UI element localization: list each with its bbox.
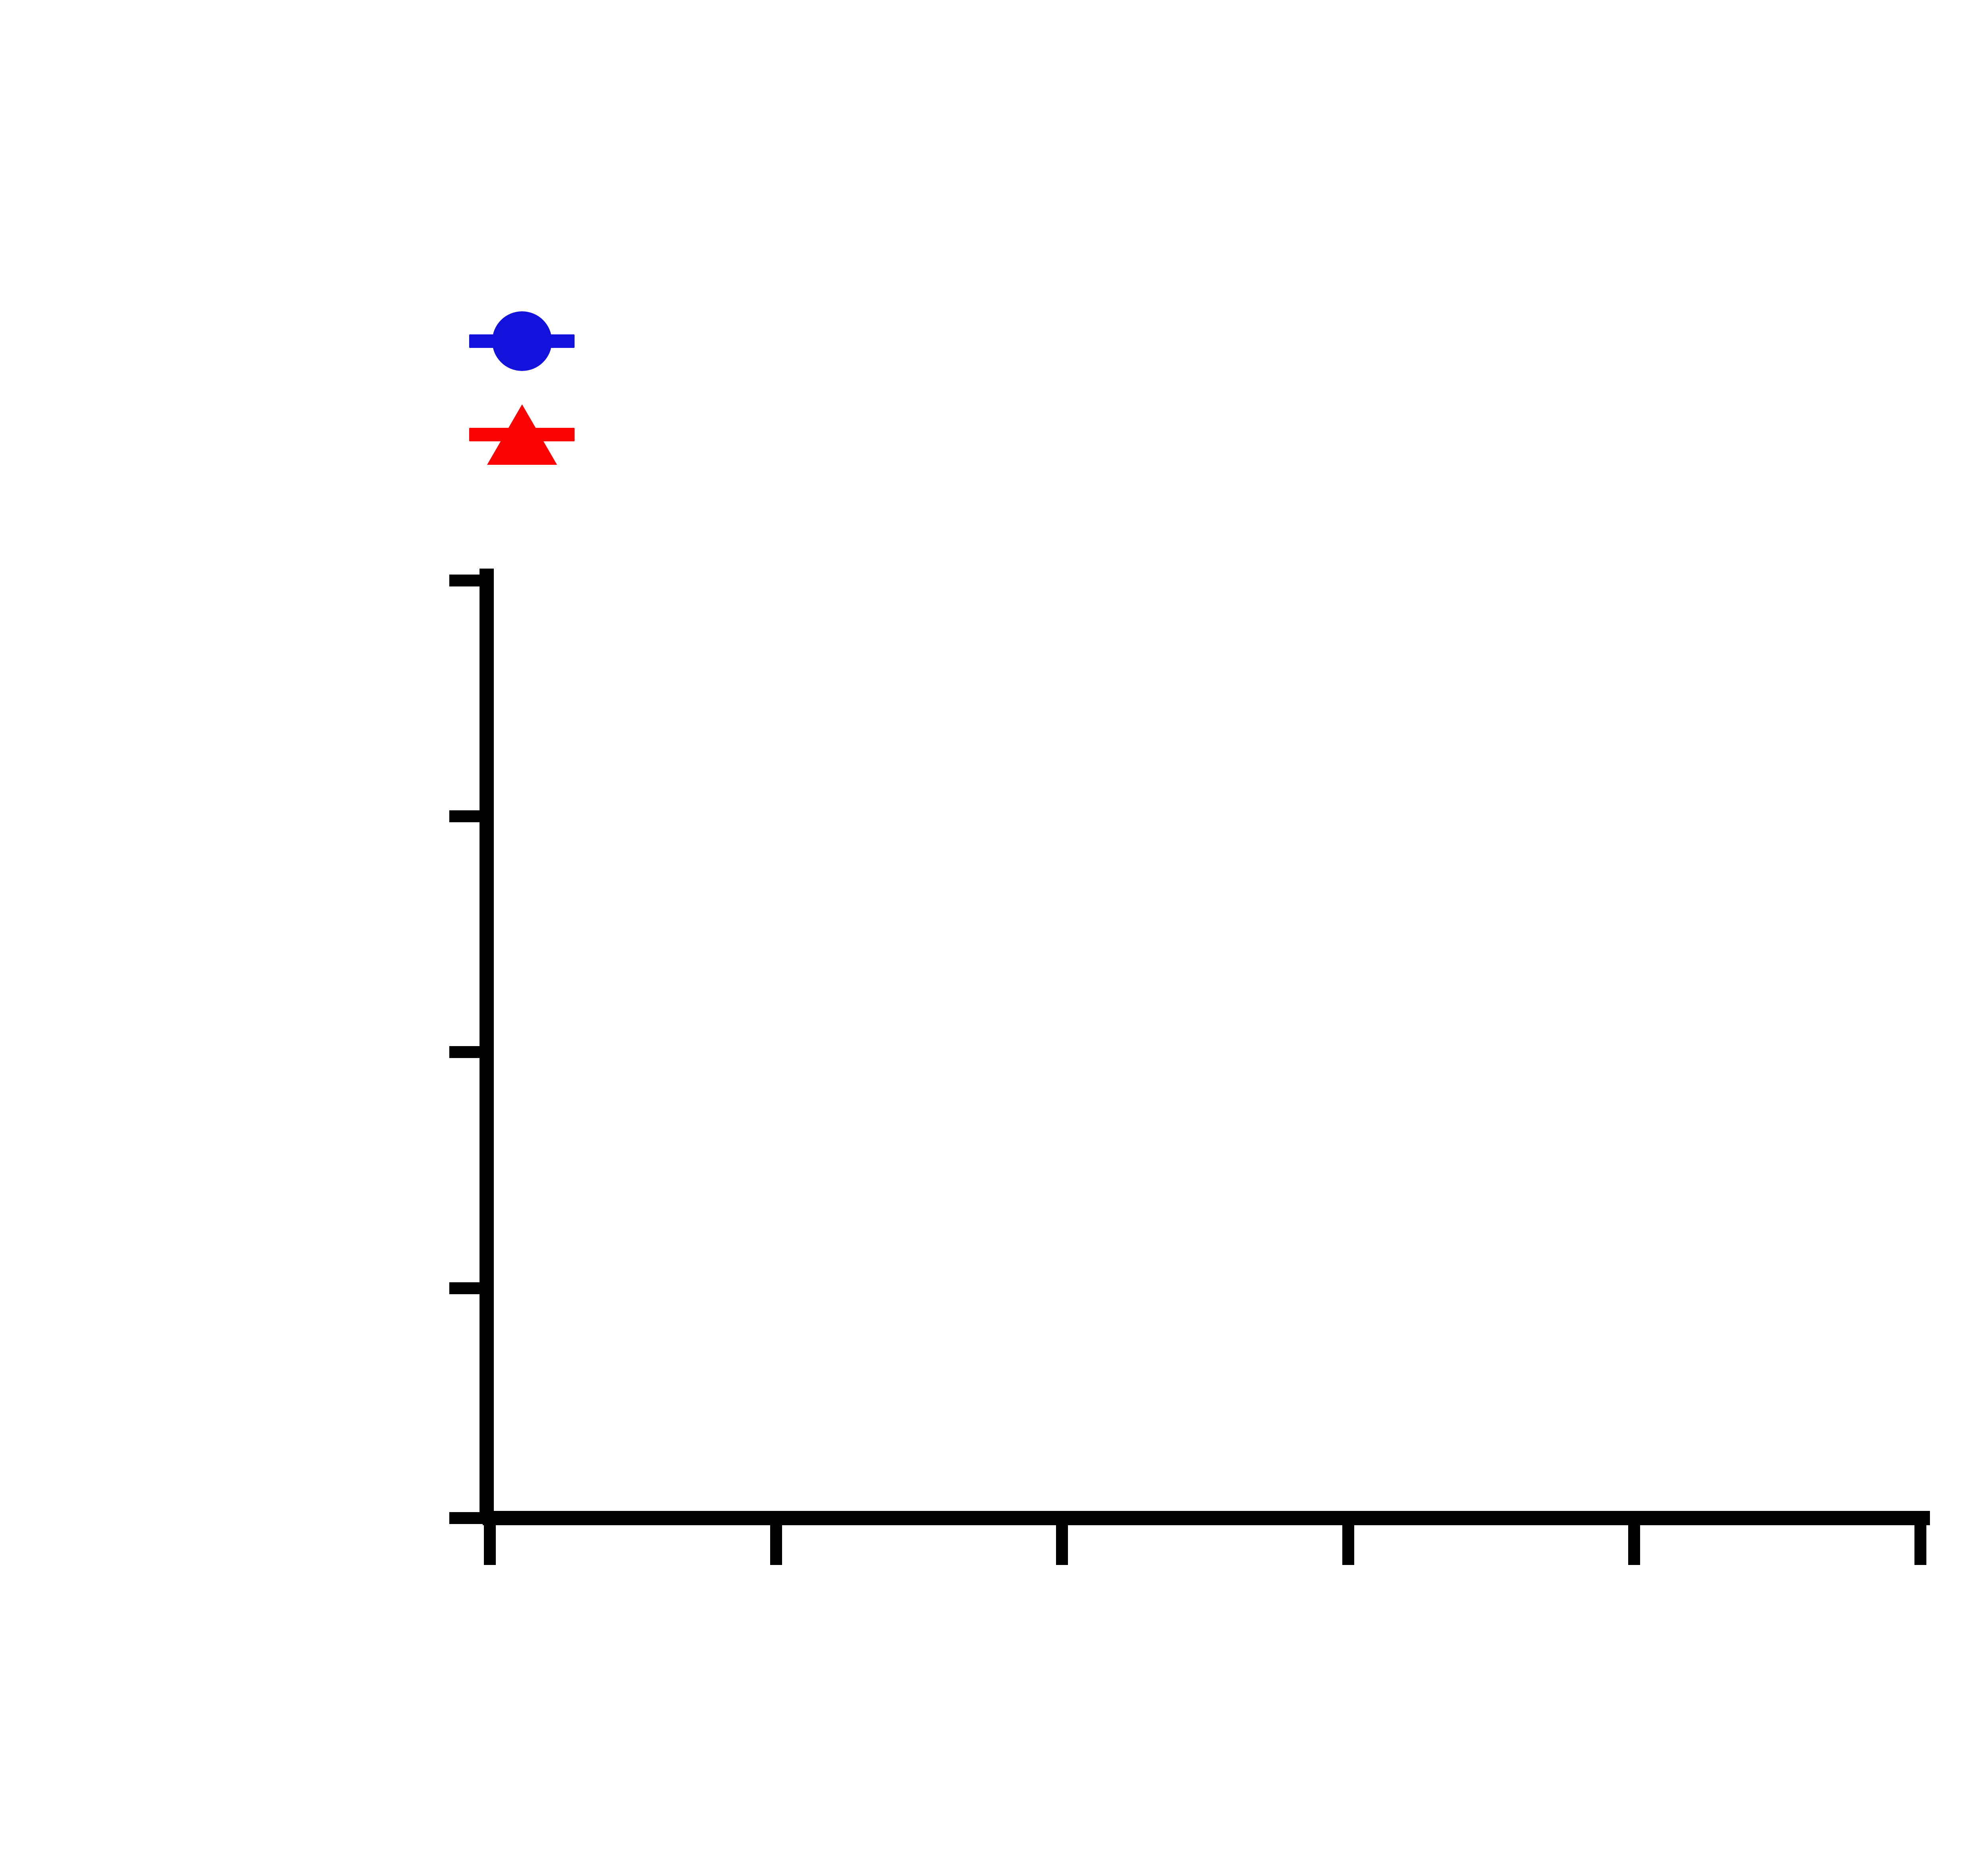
x-tick-mark bbox=[770, 1524, 782, 1565]
legend-item-tcrab-ko-cd8[interactable] bbox=[469, 388, 1861, 481]
x-tick-mark bbox=[1914, 1524, 1926, 1565]
y-tick-mark bbox=[449, 1512, 480, 1524]
y-axis-spine bbox=[480, 569, 494, 1524]
y-tick-mark bbox=[449, 1046, 480, 1058]
x-axis-spine bbox=[483, 1511, 1930, 1525]
x-tick-mark bbox=[1628, 1524, 1640, 1565]
chart-figure bbox=[0, 0, 1988, 1860]
x-tick-mark bbox=[484, 1524, 496, 1565]
y-tick-mark bbox=[449, 1282, 480, 1294]
y-tick-mark bbox=[449, 810, 480, 822]
legend-swatch-triangle-icon bbox=[469, 411, 575, 458]
legend-item-nfat-luc-jurkat[interactable] bbox=[469, 294, 1861, 388]
x-tick-mark bbox=[1056, 1524, 1068, 1565]
chart-legend bbox=[469, 294, 1861, 481]
y-tick-mark bbox=[449, 575, 480, 586]
x-tick-mark bbox=[1342, 1524, 1354, 1565]
legend-swatch-circle-icon bbox=[469, 317, 575, 365]
chart-data-overlay bbox=[0, 0, 1988, 1860]
